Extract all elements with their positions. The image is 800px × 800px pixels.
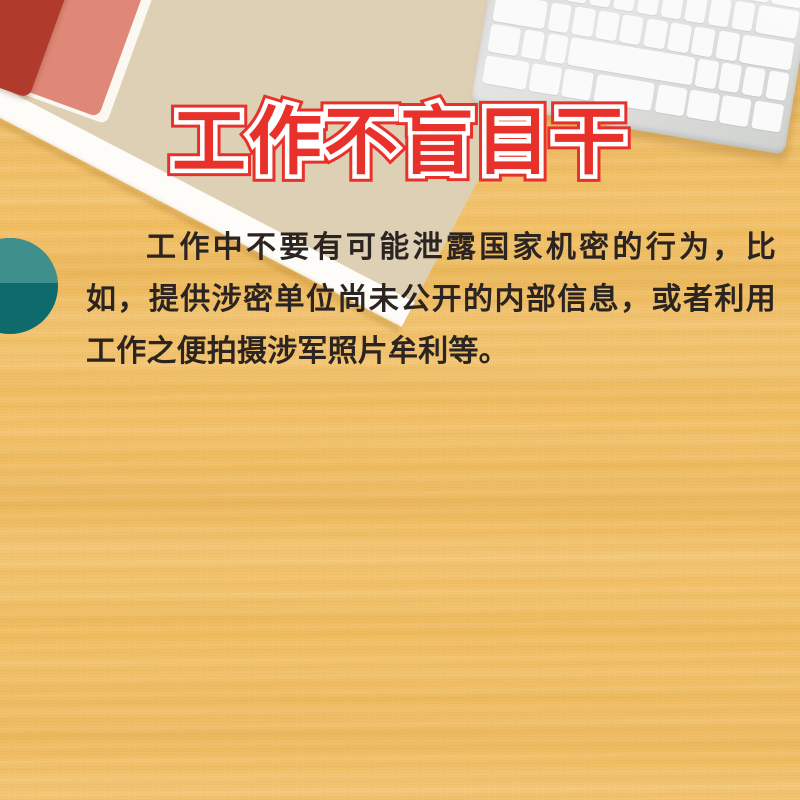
keyboard-key — [691, 26, 716, 57]
keyboard-key — [595, 10, 620, 41]
keyboard-key — [765, 70, 790, 101]
keyboard-key — [613, 0, 638, 12]
keyboard-key — [643, 18, 668, 49]
keyboard-key — [571, 6, 596, 37]
keyboard-key — [487, 24, 522, 57]
keyboard-key — [589, 0, 614, 8]
page-title: 工作不盲目干 — [172, 104, 628, 182]
keyboard-key — [544, 33, 569, 64]
keyboard-key — [667, 22, 692, 53]
poster-canvas: 工作不盲目干 工作不盲目干 工作中不要有可能泄露国家机密的行为，比如，提供涉密单… — [0, 0, 800, 800]
keyboard-key — [547, 2, 572, 33]
book-spine-shadow — [0, 0, 11, 63]
keyboard-key — [739, 34, 795, 70]
keyboard-key — [619, 14, 644, 45]
keyboard-key — [731, 1, 756, 32]
keyboard-key — [707, 0, 732, 28]
keyboard-key — [561, 68, 594, 100]
keyboard-key — [565, 0, 590, 4]
keyboard-key — [715, 30, 740, 61]
keyboard-key — [660, 0, 685, 20]
keyboard-key — [684, 0, 709, 24]
keyboard-key — [718, 62, 743, 93]
keyboard-key — [695, 58, 720, 89]
keyboard-key — [529, 63, 562, 95]
keyboard-key — [636, 0, 661, 16]
keyboard-key — [521, 29, 546, 60]
keyboard-key — [755, 5, 800, 39]
keyboard-key — [748, 0, 772, 2]
keyboard-key — [482, 55, 530, 90]
poster-body-paragraph: 工作中不要有可能泄露国家机密的行为，比如，提供涉密单位尚未公开的内部信息，或者利… — [86, 222, 776, 378]
teal-circle-top-half — [0, 238, 58, 283]
keyboard-key — [742, 66, 767, 97]
poster-title-block: 工作不盲目干 工作不盲目干 — [0, 104, 800, 200]
title-layers: 工作不盲目干 工作不盲目干 — [0, 104, 800, 200]
